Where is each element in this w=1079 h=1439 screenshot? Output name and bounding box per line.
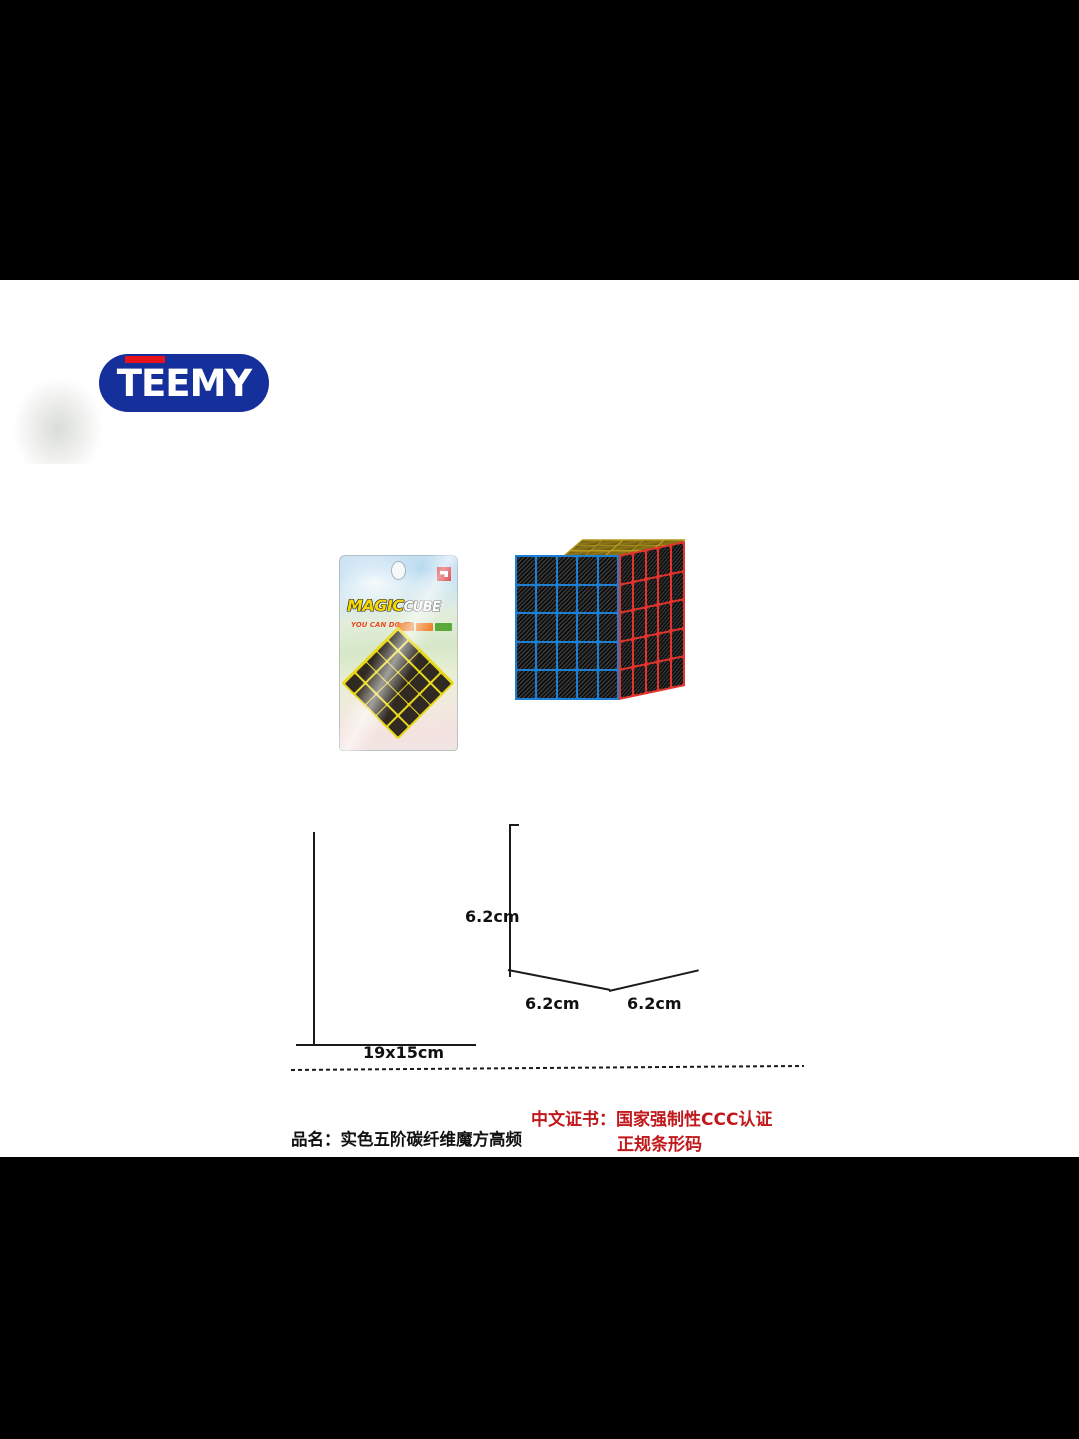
cube-tile: [517, 614, 535, 641]
cube-tile: [558, 586, 576, 613]
cube-tile: [621, 611, 632, 640]
section-divider: [291, 1065, 804, 1071]
package-dimension-vertical-line: [313, 832, 315, 1045]
certification-chinese-line-2: 正规条形码: [617, 1133, 831, 1158]
package-gloss-overlay: [339, 555, 458, 751]
cube-tile: [672, 629, 683, 658]
cube-tile: [621, 583, 632, 612]
cube-tile: [647, 577, 658, 606]
cube-tile: [537, 643, 555, 670]
cube-width-label: 6.2cm: [525, 994, 580, 1013]
cube-tile: [647, 606, 658, 635]
cube-tile: [659, 575, 670, 604]
cube-tile: [578, 643, 596, 670]
cube-tile: [672, 572, 683, 601]
cube-dimension-vertical-line: [509, 825, 511, 977]
cube-tile: [634, 609, 645, 638]
certification-chinese-line-1: 中文证书：国家强制性CCC认证: [531, 1108, 831, 1133]
cube-tile: [599, 614, 617, 641]
cube-tile: [634, 580, 645, 609]
product-spec-sheet: TEEMY MAGICCUBE YOU CAN DO IT!: [0, 280, 1079, 1157]
cube-tile: [578, 586, 596, 613]
package-dimension-label: 19x15cm: [363, 1043, 444, 1062]
cube-front-face: [515, 555, 619, 700]
cube-tile: [659, 661, 670, 690]
cube-tile: [517, 671, 535, 698]
cube-tile: [517, 586, 535, 613]
cube-tile: [599, 671, 617, 698]
cube-right-face: [619, 541, 685, 700]
cube-tile: [621, 554, 632, 583]
cube-tile: [647, 635, 658, 664]
cube-tile: [558, 671, 576, 698]
cube-tile: [599, 643, 617, 670]
cube-dimension-depth-line: [609, 969, 699, 992]
cube-tile: [621, 640, 632, 669]
cube-tile: [647, 549, 658, 578]
cube-tile: [537, 614, 555, 641]
cube-tile: [558, 643, 576, 670]
product-illustration-area: MAGICCUBE YOU CAN DO IT!: [0, 280, 1079, 1157]
cube-depth-label: 6.2cm: [627, 994, 682, 1013]
cube-tile: [537, 557, 555, 584]
cube-height-label: 6.2cm: [465, 907, 520, 926]
spec-row-product-name: 品名：实色五阶碳纤维魔方高频: [291, 1127, 531, 1154]
letterbox-bottom-bar: [0, 1157, 1079, 1439]
cube-tile: [599, 557, 617, 584]
cube-tile: [672, 543, 683, 572]
cube-dimension-width-line: [508, 969, 610, 991]
blister-package-image: MAGICCUBE YOU CAN DO IT!: [339, 555, 458, 751]
cube-tile: [517, 557, 535, 584]
cube-tile: [634, 552, 645, 581]
cube-tile: [634, 637, 645, 666]
cube-tile: [558, 557, 576, 584]
cube-tile: [659, 603, 670, 632]
cube-tile: [672, 601, 683, 630]
cube-tile: [578, 671, 596, 698]
cube-tile: [672, 658, 683, 687]
cube-tile: [578, 557, 596, 584]
cube-tile: [647, 663, 658, 692]
cube-tile: [558, 614, 576, 641]
letterbox-top-bar: [0, 0, 1079, 280]
package-shadow: [12, 376, 104, 464]
cube-tile: [578, 614, 596, 641]
cube-tile: [537, 586, 555, 613]
cube-3d-illustration: [515, 528, 685, 703]
cube-tile: [621, 669, 632, 698]
cube-tile: [517, 643, 535, 670]
cube-tile: [537, 671, 555, 698]
cube-tile: [599, 586, 617, 613]
cube-tile: [659, 632, 670, 661]
cube-tile: [634, 666, 645, 695]
cube-tile: [659, 546, 670, 575]
